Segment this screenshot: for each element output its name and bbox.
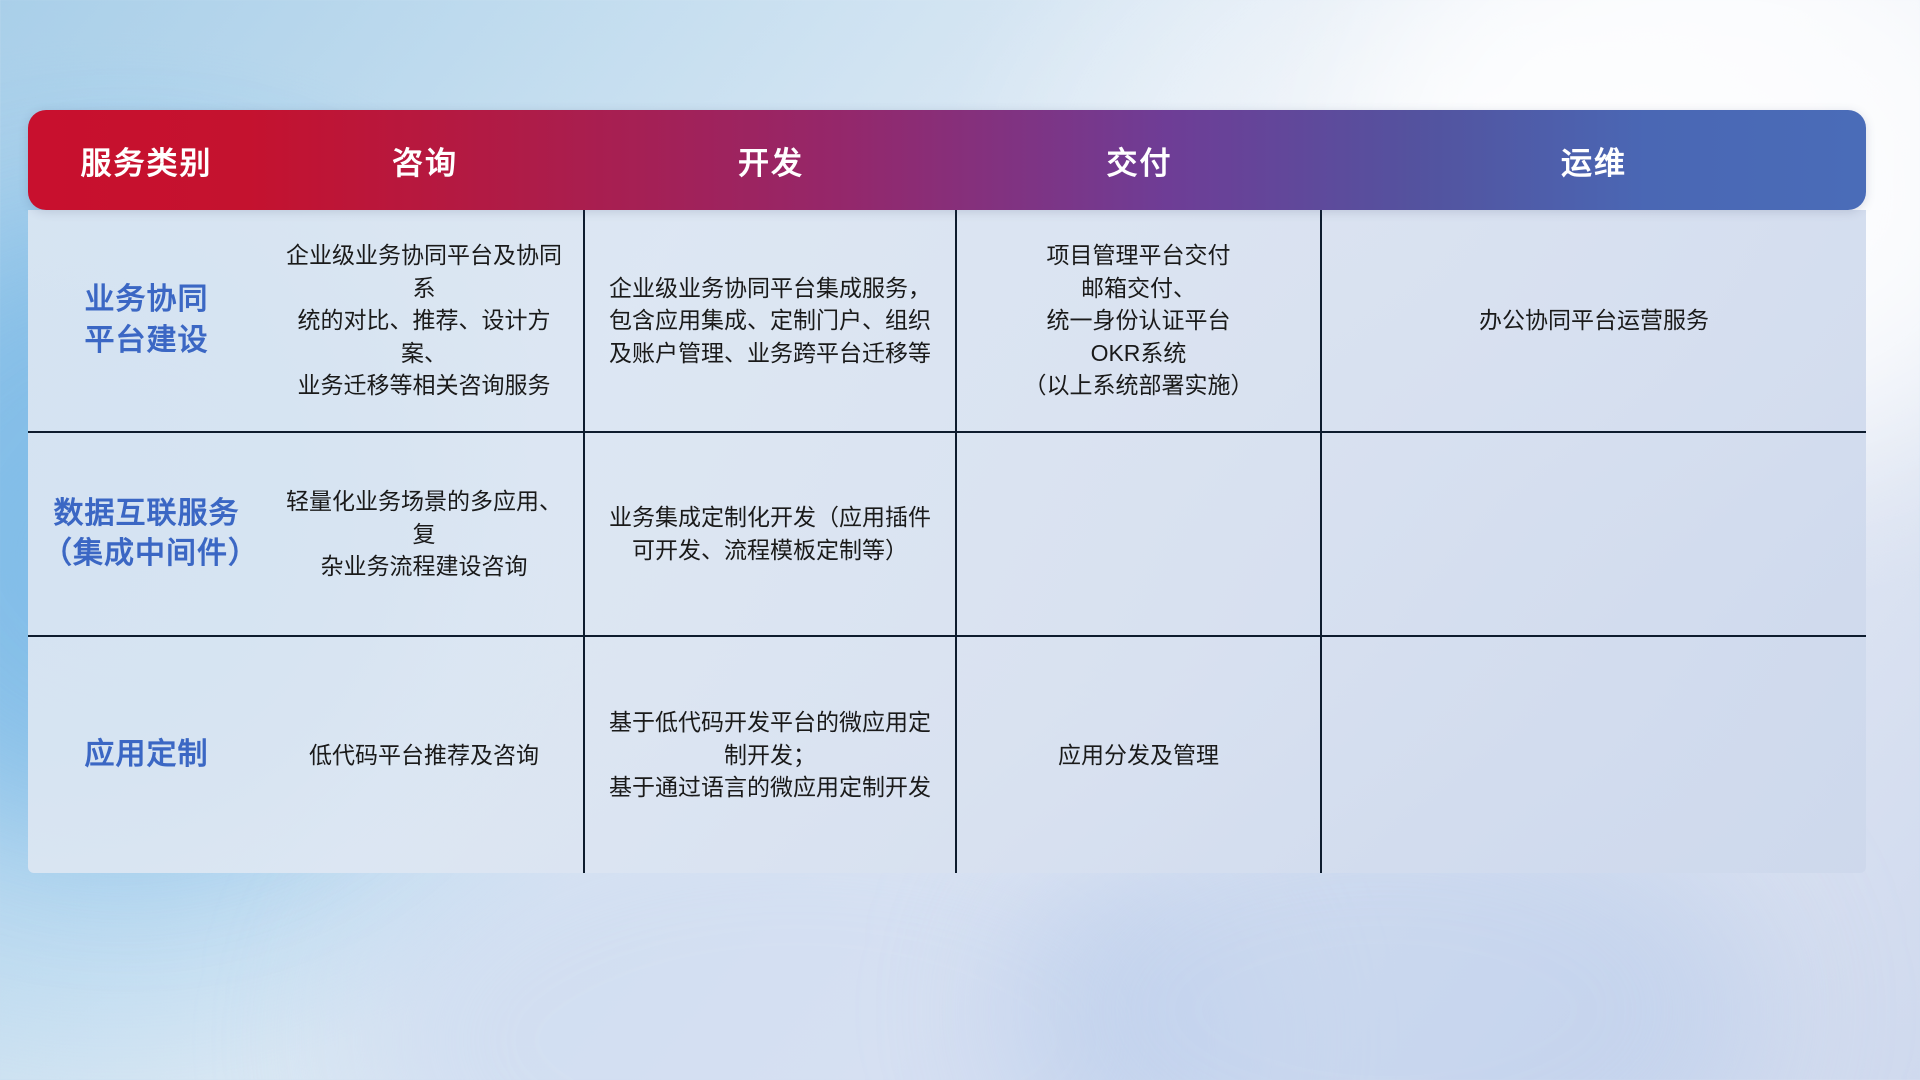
cell-development: 业务集成定制化开发（应用插件 可开发、流程模板定制等） [585,433,957,635]
cell-development: 基于低代码开发平台的微应用定 制开发； 基于通过语言的微应用定制开发 [585,637,957,873]
table-header-row: 服务类别 咨询 开发 交付 运维 [28,110,1866,210]
cell-operations: 办公协同平台运营服务 [1322,210,1866,431]
table-row: 业务协同 平台建设 企业级业务协同平台及协同系 统的对比、推荐、设计方案、 业务… [28,210,1866,433]
cell-delivery [957,433,1322,635]
cell-development: 企业级业务协同平台集成服务， 包含应用集成、定制门户、组织 及账户管理、业务跨平… [585,210,957,431]
row-category-label: 应用定制 [28,637,265,873]
table-row: 应用定制 低代码平台推荐及咨询 基于低代码开发平台的微应用定 制开发； 基于通过… [28,637,1866,873]
service-matrix-table: 服务类别 咨询 开发 交付 运维 业务协同 平台建设 企业级业务协同平台及协同系… [28,110,1866,775]
column-header-category: 服务类别 [28,138,265,183]
column-header-delivery: 交付 [957,138,1322,183]
cell-operations [1322,433,1866,635]
cell-consulting: 企业级业务协同平台及协同系 统的对比、推荐、设计方案、 业务迁移等相关咨询服务 [265,210,585,431]
cell-delivery: 应用分发及管理 [957,637,1322,873]
column-header-development: 开发 [585,138,957,183]
row-category-label: 数据互联服务 （集成中间件） [28,433,265,635]
cell-delivery: 项目管理平台交付 邮箱交付、 统一身份认证平台 OKR系统 （以上系统部署实施） [957,210,1322,431]
row-category-label: 业务协同 平台建设 [28,210,265,431]
cell-consulting: 轻量化业务场景的多应用、复 杂业务流程建设咨询 [265,433,585,635]
cell-operations [1322,637,1866,873]
column-header-operations: 运维 [1322,138,1866,183]
column-header-consulting: 咨询 [265,138,585,183]
table-body: 业务协同 平台建设 企业级业务协同平台及协同系 统的对比、推荐、设计方案、 业务… [28,210,1866,873]
cell-consulting: 低代码平台推荐及咨询 [265,637,585,873]
table-row: 数据互联服务 （集成中间件） 轻量化业务场景的多应用、复 杂业务流程建设咨询 业… [28,433,1866,637]
